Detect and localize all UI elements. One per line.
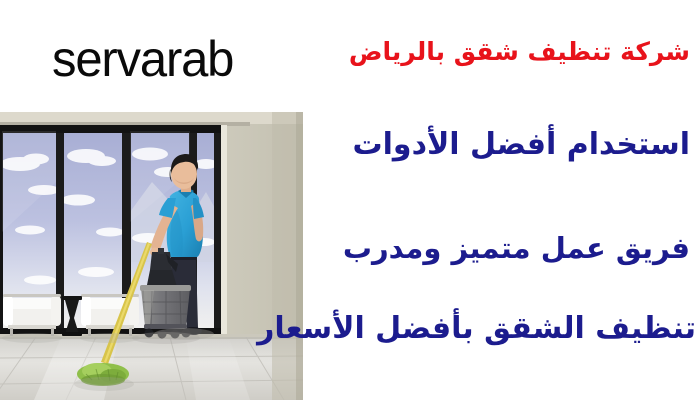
photo-illustration bbox=[0, 112, 303, 400]
marketing-text-column: شركة تنظيف شقق بالرياض استخدام أفضل الأد… bbox=[305, 0, 700, 400]
brand-logo: servarab bbox=[52, 28, 282, 90]
feature-trained-team: فريق عمل متميز ومدرب bbox=[343, 232, 690, 264]
brand-logo-text: servarab bbox=[52, 34, 233, 84]
cleaning-service-photo bbox=[0, 112, 303, 400]
headline-apartment-cleaning-riyadh: شركة تنظيف شقق بالرياض bbox=[349, 38, 690, 66]
advertisement-banner: servarab bbox=[0, 0, 700, 400]
feature-best-prices: تنظيف الشقق بأفضل الأسعار bbox=[257, 312, 696, 346]
feature-best-tools: استخدام أفضل الأدوات bbox=[353, 128, 691, 162]
